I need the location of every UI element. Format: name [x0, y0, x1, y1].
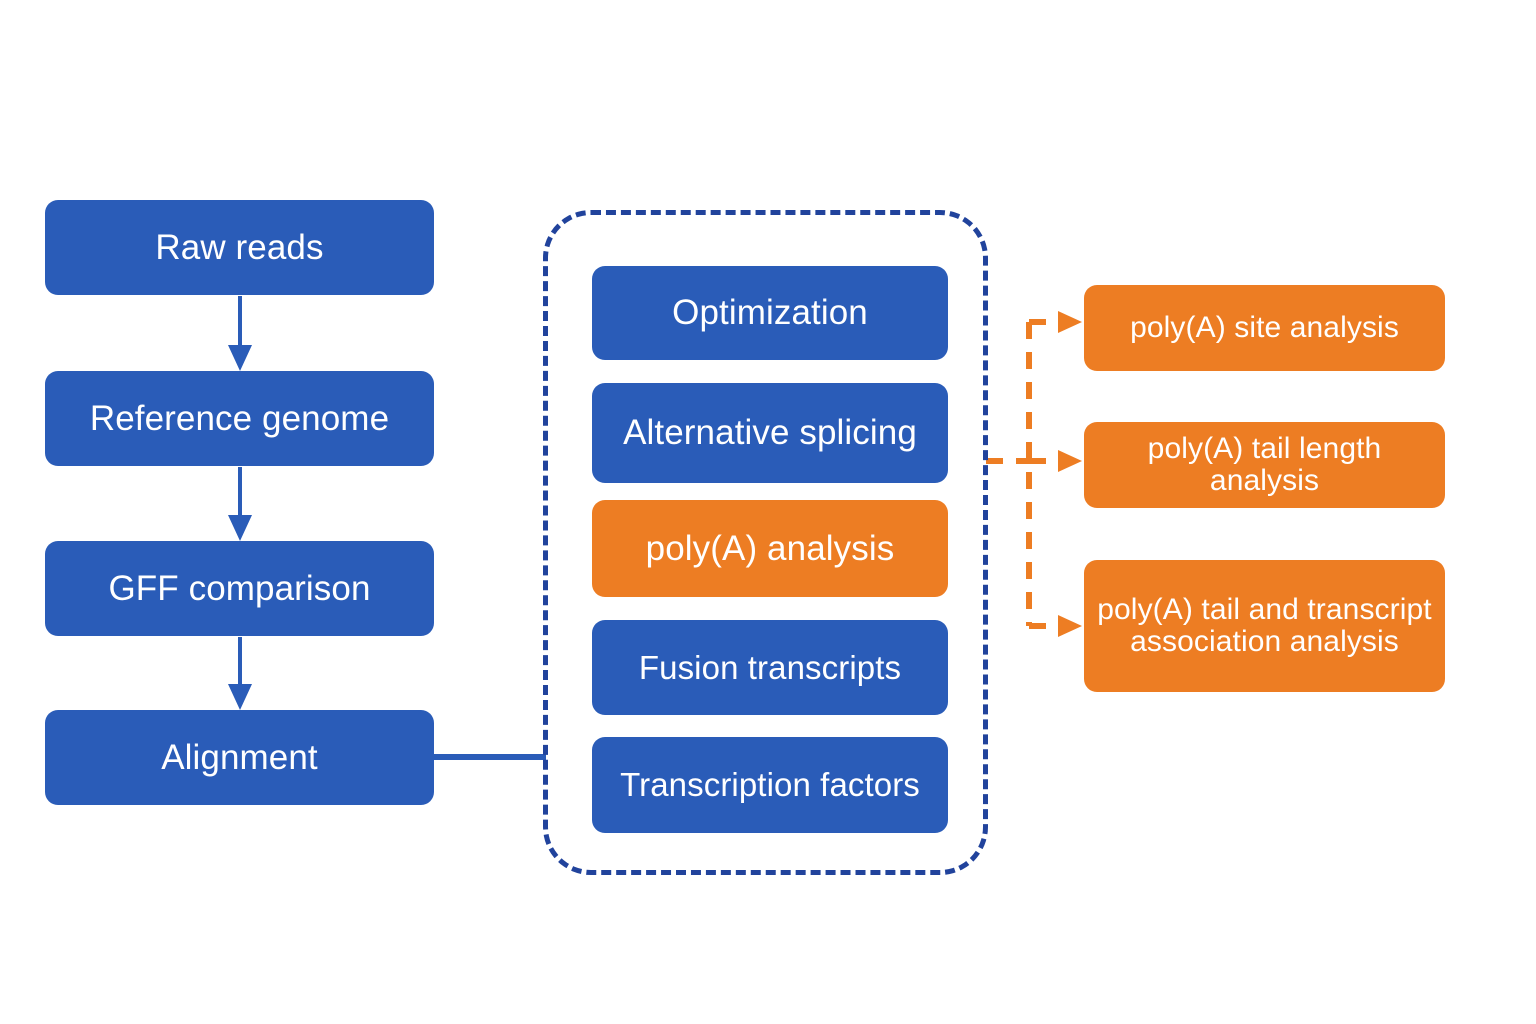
node-polya-tail-length-analysis[interactable]: poly(A) tail length analysis	[1084, 422, 1445, 508]
node-polya-tail-assoc-analysis-label: poly(A) tail and transcript association …	[1094, 594, 1435, 659]
node-alternative-splicing[interactable]: Alternative splicing	[592, 383, 948, 483]
node-polya-analysis[interactable]: poly(A) analysis	[592, 500, 948, 597]
node-polya-tail-assoc-analysis[interactable]: poly(A) tail and transcript association …	[1084, 560, 1445, 692]
node-transcription-factors[interactable]: Transcription factors	[592, 737, 948, 833]
arrow-gff-comparison-to-alignment	[228, 637, 252, 710]
node-reference-genome-label: Reference genome	[55, 400, 424, 438]
diagram-canvas: Raw reads Reference genome GFF compariso…	[0, 0, 1536, 1024]
arrow-raw-reads-to-reference-genome	[228, 296, 252, 371]
node-alignment-label: Alignment	[55, 739, 424, 777]
arrowhead-polya-tail-assoc-analysis	[1058, 615, 1082, 637]
node-optimization[interactable]: Optimization	[592, 266, 948, 360]
node-gff-comparison-label: GFF comparison	[55, 570, 424, 608]
arrow-reference-genome-to-gff-comparison	[228, 467, 252, 541]
node-fusion-transcripts-label: Fusion transcripts	[602, 650, 938, 686]
node-optimization-label: Optimization	[602, 294, 938, 332]
node-alternative-splicing-label: Alternative splicing	[602, 414, 938, 452]
branch-polya-outputs	[986, 322, 1063, 626]
node-alignment[interactable]: Alignment	[45, 710, 434, 805]
node-polya-tail-length-analysis-label: poly(A) tail length analysis	[1094, 433, 1435, 498]
node-reference-genome[interactable]: Reference genome	[45, 371, 434, 466]
node-polya-analysis-label: poly(A) analysis	[602, 530, 938, 568]
node-polya-site-analysis[interactable]: poly(A) site analysis	[1084, 285, 1445, 371]
arrowhead-polya-site-analysis	[1058, 311, 1082, 333]
node-polya-site-analysis-label: poly(A) site analysis	[1094, 312, 1435, 344]
node-raw-reads[interactable]: Raw reads	[45, 200, 434, 295]
node-transcription-factors-label: Transcription factors	[602, 767, 938, 803]
node-raw-reads-label: Raw reads	[55, 229, 424, 267]
branch-arrowheads	[1058, 311, 1082, 637]
node-fusion-transcripts[interactable]: Fusion transcripts	[592, 620, 948, 715]
node-gff-comparison[interactable]: GFF comparison	[45, 541, 434, 636]
arrowhead-polya-tail-length-analysis	[1058, 450, 1082, 472]
